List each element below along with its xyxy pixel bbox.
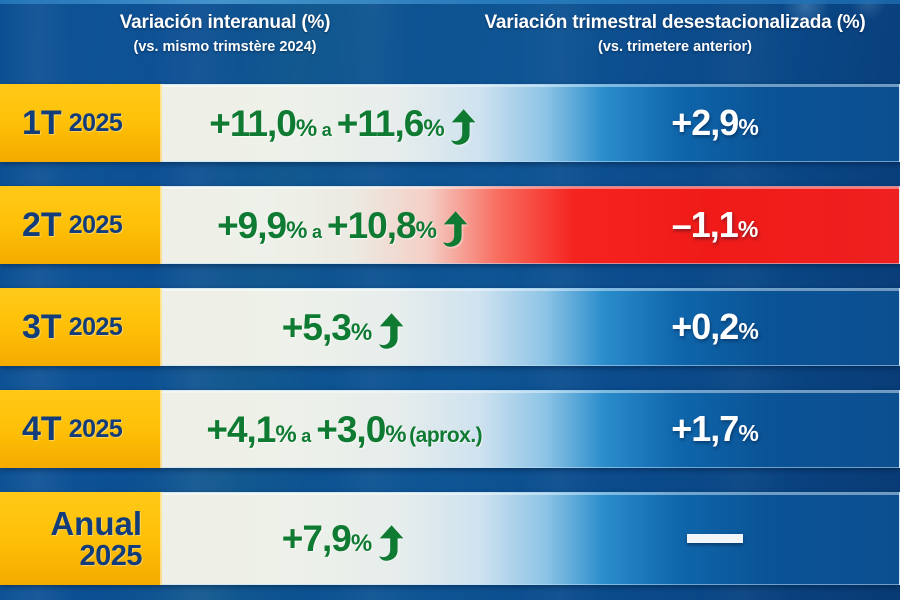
interannual-to-unit: % [385,423,406,447]
value-strip: +9,9%a+10,8% –1,1% [162,186,900,264]
header-subtitle-interannual: (vs. mismo trimstère 2024) [134,39,317,55]
interannual-cell: +5,3% [162,289,531,365]
arrow-up-icon [377,524,407,562]
period-label-cell: 2T 2025 [0,186,162,264]
interannual-from-unit: % [351,532,372,556]
value-strip: +7,9% [162,492,900,585]
header-column-quarterly: Variación trimestral desestacionalizada … [450,0,900,84]
period-label-cell: 1T 2025 [0,84,162,162]
quarterly-cell [531,493,900,584]
header-subtitle-quarterly: (vs. trimetere anterior) [598,39,752,55]
period-quarter: 4T [22,412,62,446]
interannual-value: +11,0%a+11,6% [209,105,444,142]
quarterly-number: +2,9 [671,105,738,141]
interannual-value: +9,9%a+10,8% [217,207,436,244]
infographic-stage: Variación interanual (%) (vs. mismo trim… [0,0,900,600]
period-label-cell: 4T 2025 [0,390,162,468]
data-rows: 1T 2025 +11,0%a+11,6% +2,9% [0,84,900,585]
quarterly-number: +1,7 [671,411,738,447]
quarterly-cell: +0,2% [531,289,900,365]
quarterly-unit: % [738,320,758,343]
interannual-from-unit: % [275,423,296,447]
interannual-to-unit: % [416,219,437,243]
interannual-cell: +4,1%a+3,0%(aprox.) [162,391,531,467]
quarterly-number: –1,1 [672,207,738,243]
interannual-from: +9,9 [217,207,286,244]
interannual-value: +5,3% [282,309,372,346]
value-strip: +4,1%a+3,0%(aprox.) +1,7% [162,390,900,468]
interannual-connector: a [307,223,327,241]
table-row: 2T 2025 +9,9%a+10,8% –1,1% [0,186,900,264]
interannual-from: +5,3 [282,309,351,346]
interannual-value: +7,9% [282,520,372,557]
period-year: 2025 [69,213,123,238]
value-strip: +5,3% +0,2% [162,288,900,366]
quarterly-cell: +2,9% [531,85,900,161]
period-year: 2025 [69,417,123,442]
period-year: 2025 [69,315,123,340]
interannual-to: +11,6 [337,105,424,142]
quarterly-unit: % [738,422,758,445]
interannual-from: +4,1 [206,411,275,448]
interannual-from-unit: % [296,117,317,141]
interannual-to: +3,0 [316,411,385,448]
quarterly-unit: % [738,218,758,241]
arrow-up-icon [441,210,471,248]
quarterly-value: +2,9% [671,105,758,141]
header-title-interannual: Variación interanual (%) [120,12,331,34]
interannual-from: +7,9 [282,520,351,557]
interannual-from: +11,0 [209,105,296,142]
em-dash-icon [687,534,743,543]
table-row: Anual 2025 +7,9% [0,492,900,585]
arrow-up-icon [449,108,479,146]
period-quarter: 3T [22,310,62,344]
period-year: 2025 [79,542,142,571]
period-quarter: Anual [50,507,142,540]
period-label-cell: 3T 2025 [0,288,162,366]
interannual-connector: a [317,121,337,139]
header-title-quarterly: Variación trimestral desestacionalizada … [484,12,865,34]
table-row: 3T 2025 +5,3% +0,2% [0,288,900,366]
quarterly-number: +0,2 [671,309,738,345]
period-quarter: 1T [22,106,62,140]
interannual-cell: +7,9% [162,493,531,584]
quarterly-value: –1,1% [672,207,758,243]
quarterly-cell: +1,7% [531,391,900,467]
header-column-interannual: Variación interanual (%) (vs. mismo trim… [0,0,450,84]
interannual-to-unit: % [423,117,444,141]
period-quarter: 2T [22,208,62,242]
header: Variación interanual (%) (vs. mismo trim… [0,0,900,84]
interannual-cell: +11,0%a+11,6% [162,85,531,161]
arrow-up-icon [377,312,407,350]
quarterly-value: +0,2% [671,309,758,345]
quarterly-value: +1,7% [671,411,758,447]
interannual-from-unit: % [286,219,307,243]
period-year: 2025 [69,111,123,136]
quarterly-unit: % [738,116,758,139]
value-strip: +11,0%a+11,6% +2,9% [162,84,900,162]
interannual-value: +4,1%a+3,0%(aprox.) [206,411,482,448]
interannual-note: (aprox.) [406,425,482,446]
interannual-from-unit: % [351,321,372,345]
interannual-to: +10,8 [327,207,416,244]
interannual-cell: +9,9%a+10,8% [162,187,531,263]
period-label-cell: Anual 2025 [0,492,162,585]
table-row: 1T 2025 +11,0%a+11,6% +2,9% [0,84,900,162]
interannual-connector: a [296,427,316,445]
quarterly-cell: –1,1% [531,187,900,263]
table-row: 4T 2025 +4,1%a+3,0%(aprox.) +1,7% [0,390,900,468]
